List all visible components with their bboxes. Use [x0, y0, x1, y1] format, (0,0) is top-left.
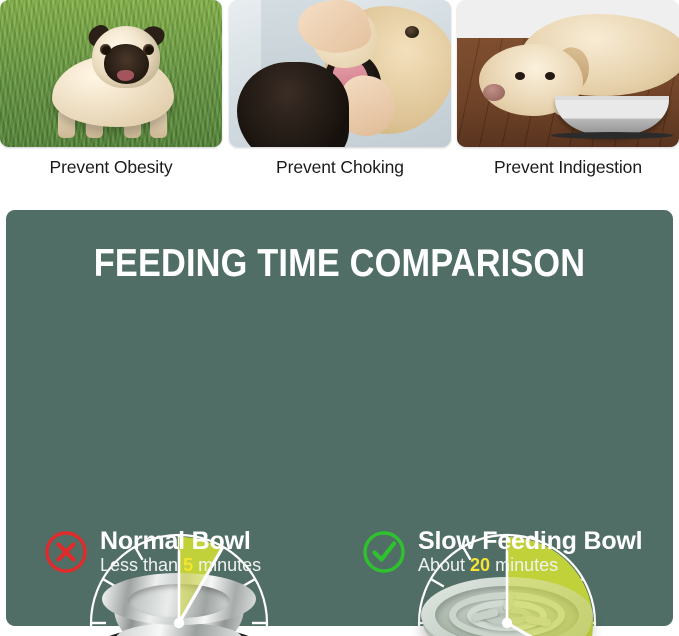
panel-title: FEEDING TIME COMPARISON — [46, 242, 633, 286]
result-title: Slow Feeding Bowl — [418, 528, 642, 554]
benefit-item-indigestion: Prevent Indigestion — [457, 0, 679, 196]
result-slow-feeding-bowl: Slow Feeding Bowl About 20 minutes — [361, 528, 642, 577]
result-sub-prefix: Less than — [100, 555, 183, 575]
result-sub-value: 5 — [183, 555, 193, 575]
pug-photo — [0, 0, 222, 147]
benefit-caption: Prevent Indigestion — [457, 157, 679, 178]
labrador-eye-icon — [515, 72, 525, 80]
bowl-interior — [128, 584, 230, 618]
benefit-caption: Prevent Obesity — [0, 157, 222, 178]
result-sub-prefix: About — [418, 555, 470, 575]
result-sub-value: 20 — [470, 555, 490, 575]
result-sub-suffix: minutes — [490, 555, 558, 575]
result-text-block: Slow Feeding Bowl About 20 minutes — [418, 528, 642, 577]
labrador-bowl-photo — [457, 0, 679, 147]
benefit-item-obesity: Prevent Obesity — [0, 0, 222, 196]
labrador-nose-icon — [483, 84, 505, 101]
check-circle-icon — [361, 529, 407, 575]
benefit-item-choking: Prevent Choking — [229, 0, 451, 196]
result-subtitle: Less than 5 minutes — [100, 555, 261, 577]
x-circle-icon — [43, 529, 89, 575]
labrador-eye-icon — [545, 72, 555, 80]
vet-check-photo — [229, 0, 451, 147]
benefits-strip: Prevent Obesity Prevent Choking — [0, 0, 679, 200]
benefit-caption: Prevent Choking — [229, 157, 451, 178]
pug-eye-icon — [143, 44, 154, 55]
comparison-panel: FEEDING TIME COMPARISON — [6, 210, 673, 626]
slow-feeder-bowl-art — [421, 577, 593, 636]
normal-steel-bowl-art — [102, 573, 256, 636]
pug-eye-icon — [100, 44, 111, 55]
person-head-silhouette — [237, 62, 349, 147]
pug-tongue — [117, 70, 134, 81]
result-title: Normal Bowl — [100, 528, 261, 554]
retriever-eye-icon — [405, 26, 419, 38]
result-text-block: Normal Bowl Less than 5 minutes — [100, 528, 261, 577]
result-normal-bowl: Normal Bowl Less than 5 minutes — [43, 528, 261, 577]
infographic-root: Prevent Obesity Prevent Choking — [0, 0, 679, 636]
result-sub-suffix: minutes — [193, 555, 261, 575]
result-subtitle: About 20 minutes — [418, 555, 642, 577]
